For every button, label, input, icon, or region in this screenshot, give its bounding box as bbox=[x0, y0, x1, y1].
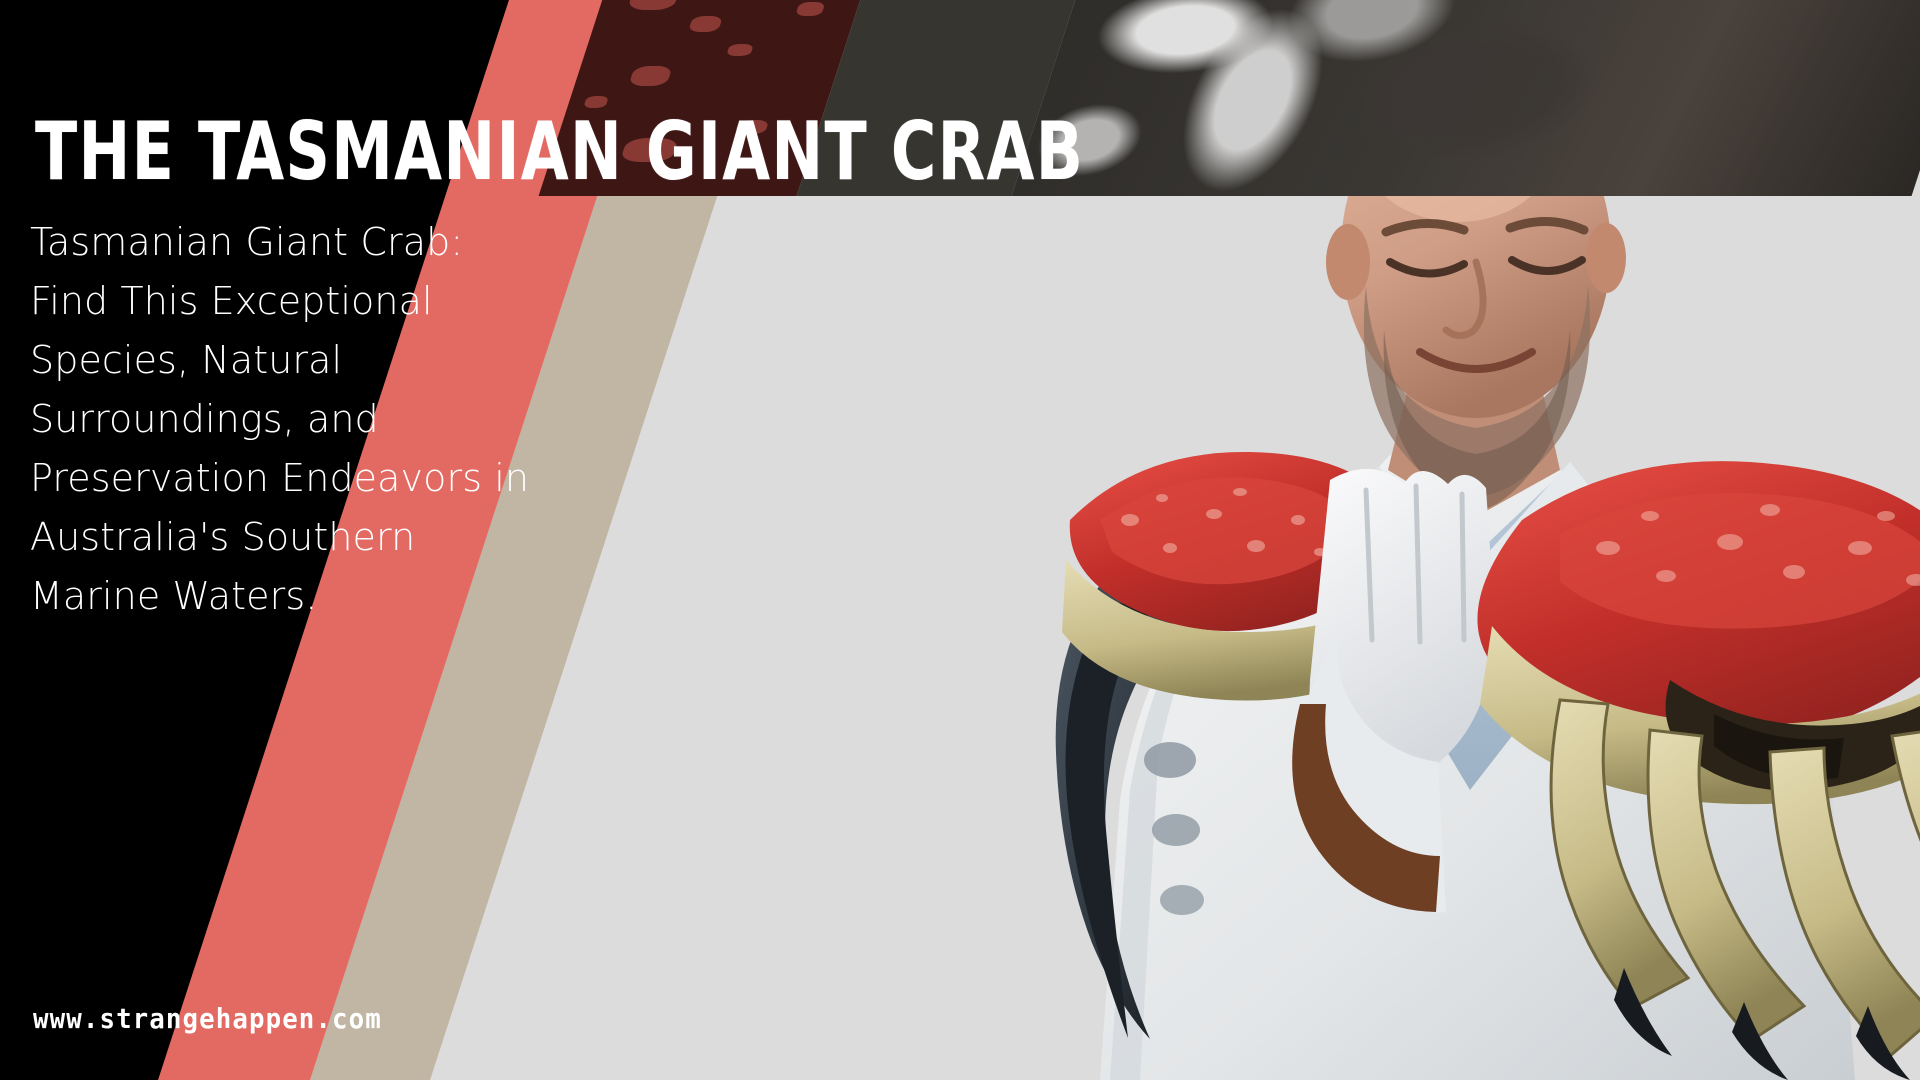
description-line: Australia's Southern bbox=[30, 508, 550, 567]
description-line: Preservation Endeavors in bbox=[30, 449, 550, 508]
description-line: Surroundings, and bbox=[30, 390, 550, 449]
description-line: Marine Waters. bbox=[30, 567, 550, 626]
description-line: Find This Exceptional bbox=[30, 272, 550, 331]
page-title: THE TASMANIAN GIANT CRAB bbox=[35, 110, 1084, 194]
description-line: Species, Natural bbox=[30, 331, 550, 390]
promo-banner: THE TASMANIAN GIANT CRAB Tasmanian Giant… bbox=[0, 0, 1920, 1080]
banner-description: Tasmanian Giant Crab: Find This Exceptio… bbox=[30, 213, 550, 626]
description-line: Tasmanian Giant Crab: bbox=[30, 213, 550, 272]
website-url[interactable]: www.strangehappen.com bbox=[33, 1002, 382, 1035]
